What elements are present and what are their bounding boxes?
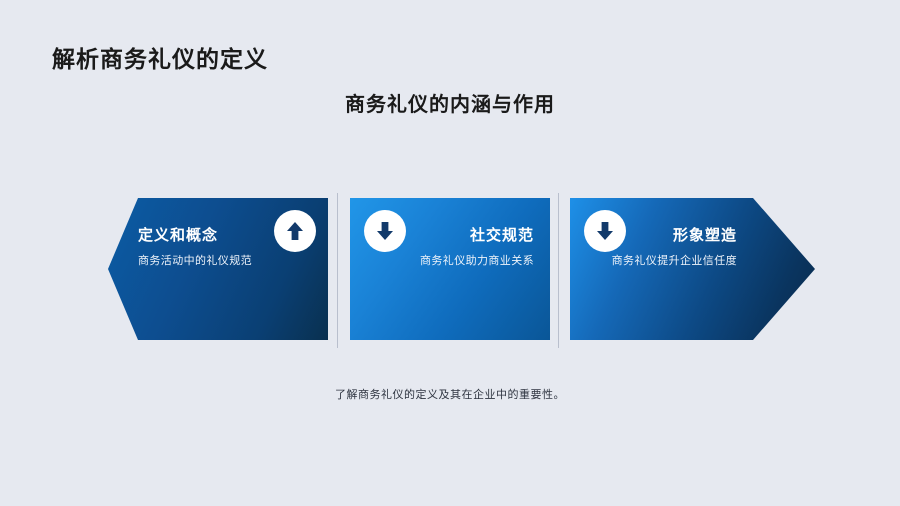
card-1-content: 定义和概念 商务活动中的礼仪规范 [108,198,328,340]
arrow-down-icon [364,210,406,252]
card-2-content: 社交规范 商务礼仪助力商业关系 [350,198,550,340]
card-divider-2 [558,193,559,348]
card-divider-1 [337,193,338,348]
card-2-title: 社交规范 [470,224,534,245]
card-3-title: 形象塑造 [673,224,737,245]
card-3-content: 形象塑造 商务礼仪提升企业信任度 [570,198,815,340]
card-2-description: 商务礼仪助力商业关系 [420,252,534,268]
process-card-3[interactable]: 形象塑造 商务礼仪提升企业信任度 [570,198,815,340]
process-card-1[interactable]: 定义和概念 商务活动中的礼仪规范 [108,198,328,340]
arrow-down-icon [584,210,626,252]
arrow-up-icon [274,210,316,252]
process-chevron-row: 定义和概念 商务活动中的礼仪规范 社交规范 商务礼仪助力商业关系 [0,198,900,340]
card-1-description: 商务活动中的礼仪规范 [138,252,252,268]
card-3-description: 商务礼仪提升企业信任度 [612,252,737,268]
slide-caption: 了解商务礼仪的定义及其在企业中的重要性。 [0,386,900,402]
slide-canvas: 解析商务礼仪的定义 商务礼仪的内涵与作用 定义和概念 商务活动中的礼仪规范 [0,0,900,506]
page-subtitle: 商务礼仪的内涵与作用 [0,88,900,117]
page-title: 解析商务礼仪的定义 [52,40,268,74]
process-card-2[interactable]: 社交规范 商务礼仪助力商业关系 [350,198,550,340]
card-1-title: 定义和概念 [138,224,218,245]
